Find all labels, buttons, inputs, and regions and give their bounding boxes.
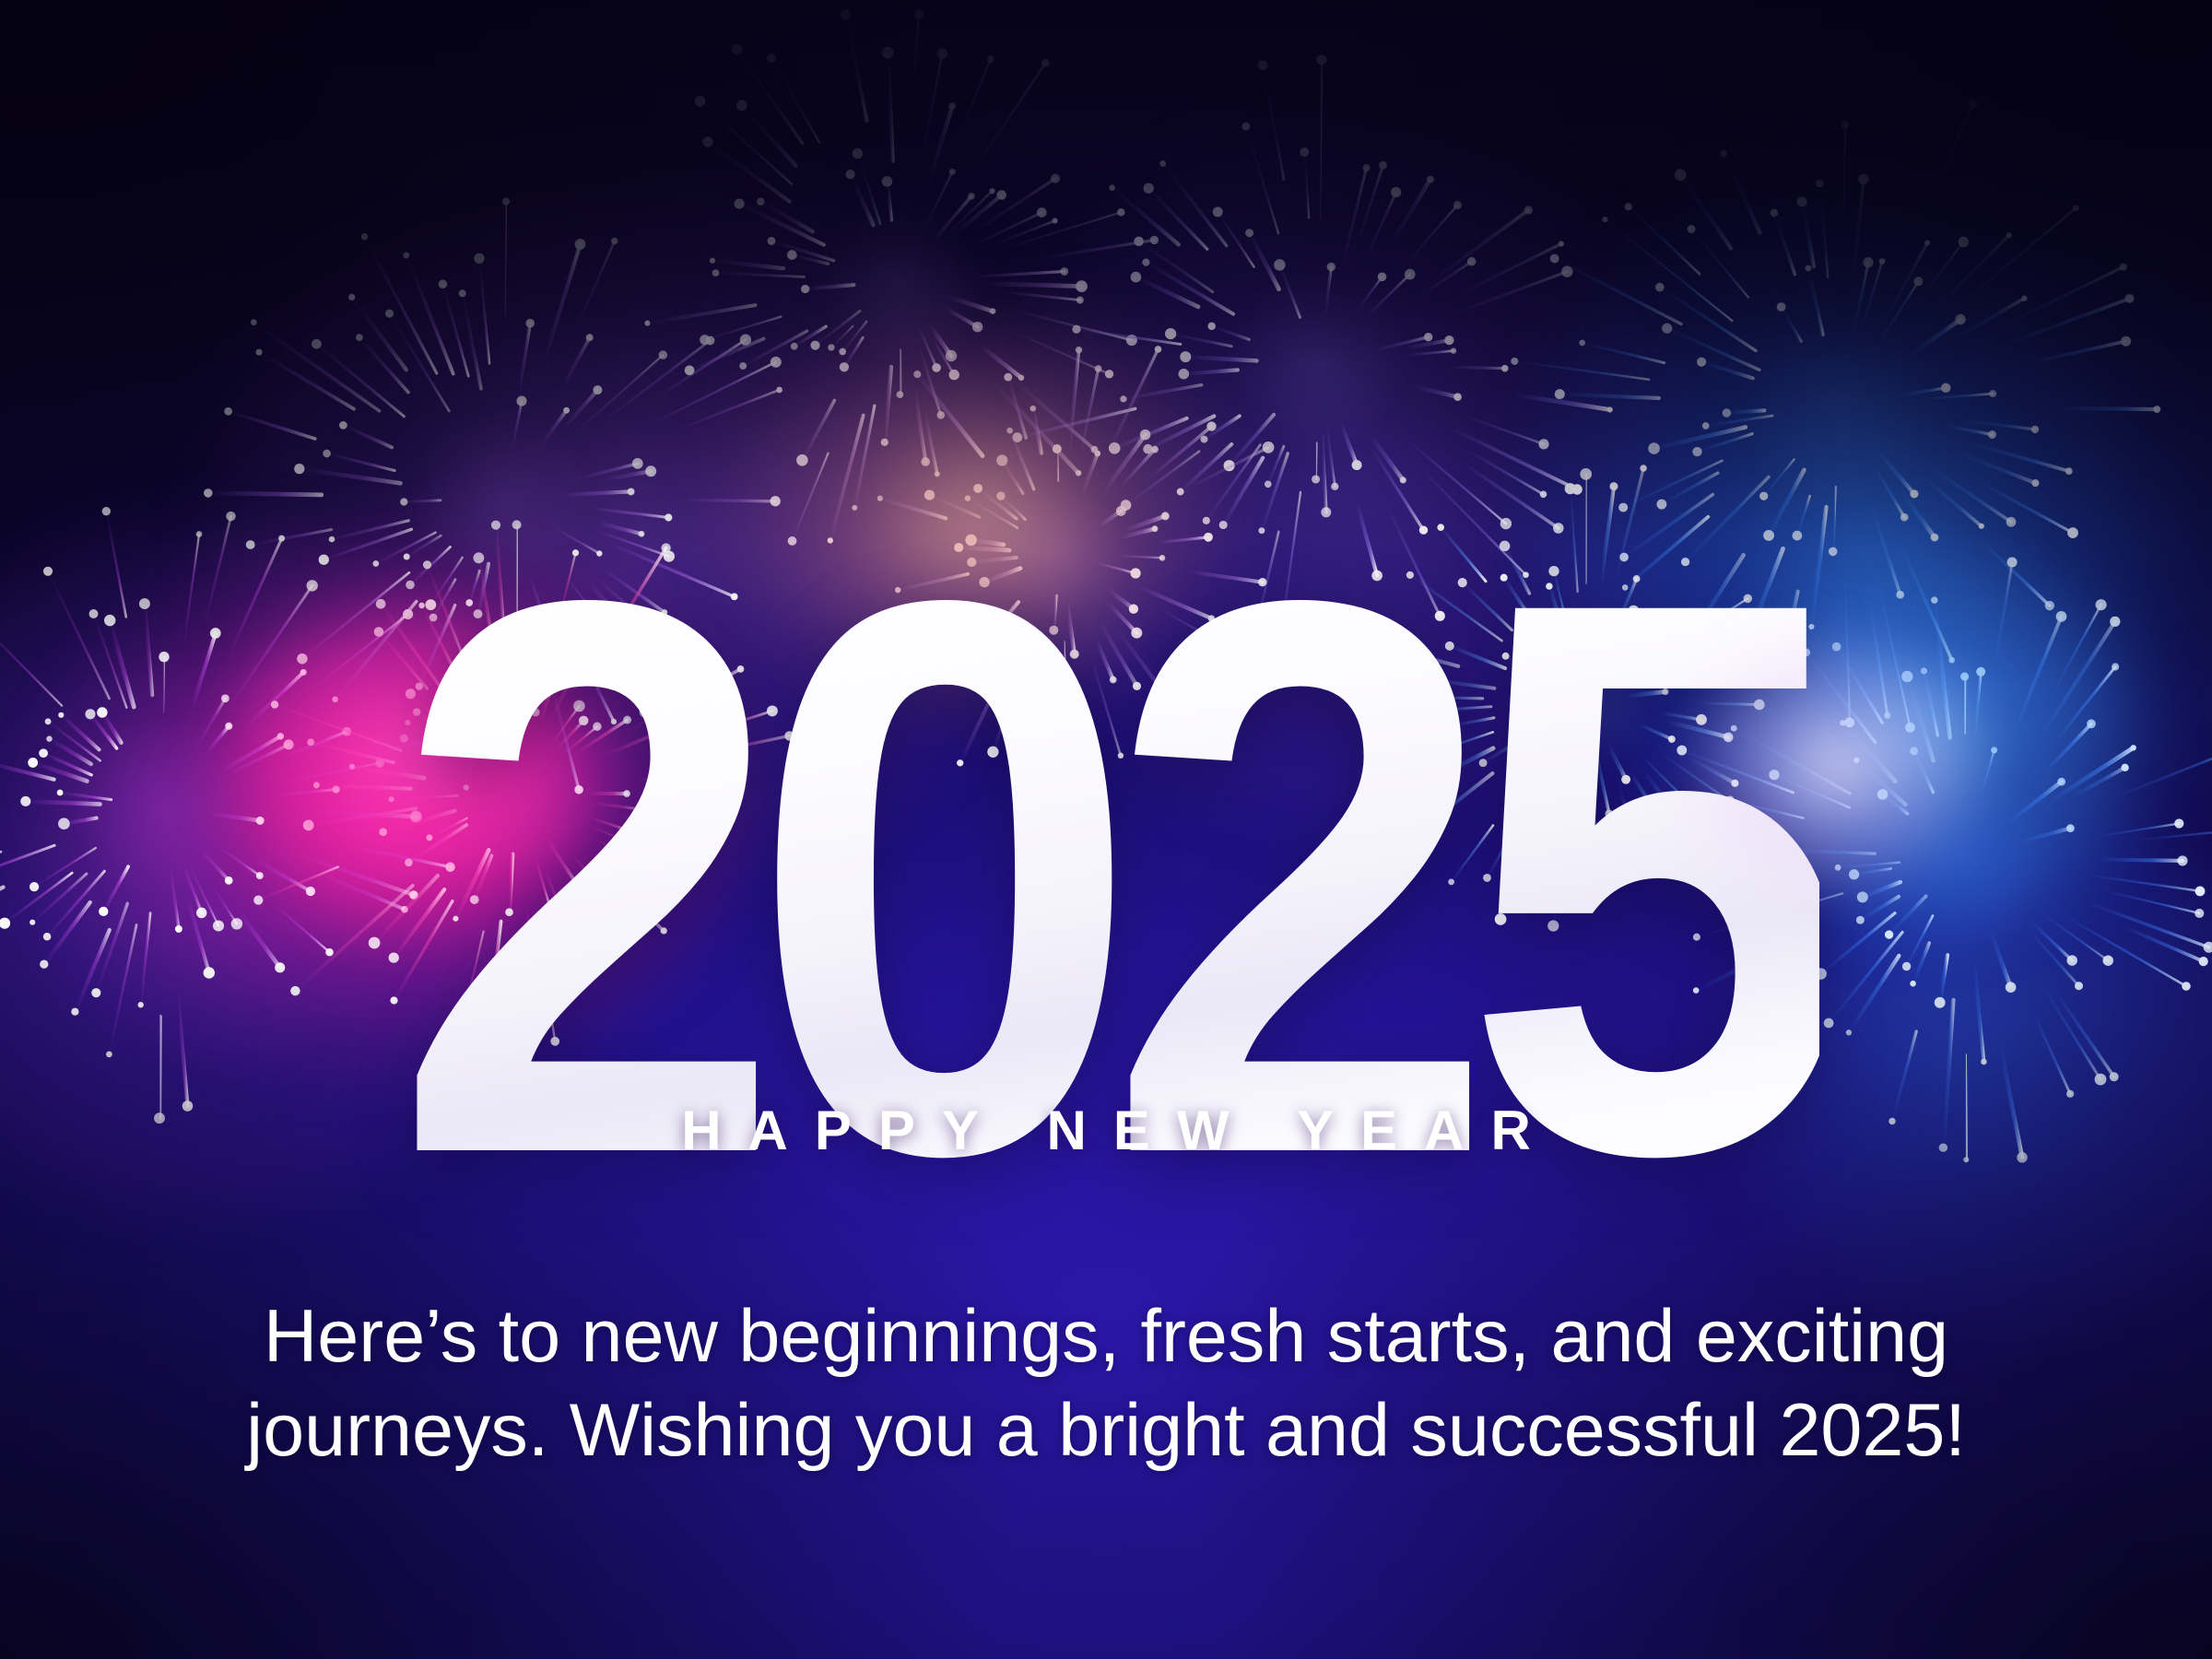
greeting-message: Here’s to new beginnings, fresh starts, … <box>175 1290 2037 1478</box>
greeting-message-line-1: Here’s to new beginnings, fresh starts, … <box>175 1290 2037 1384</box>
new-year-greeting-card: 2025 HAPPY NEW YEAR Here’s to new beginn… <box>0 0 2212 1659</box>
greeting-message-line-2: journeys. Wishing you a bright and succe… <box>175 1384 2037 1478</box>
